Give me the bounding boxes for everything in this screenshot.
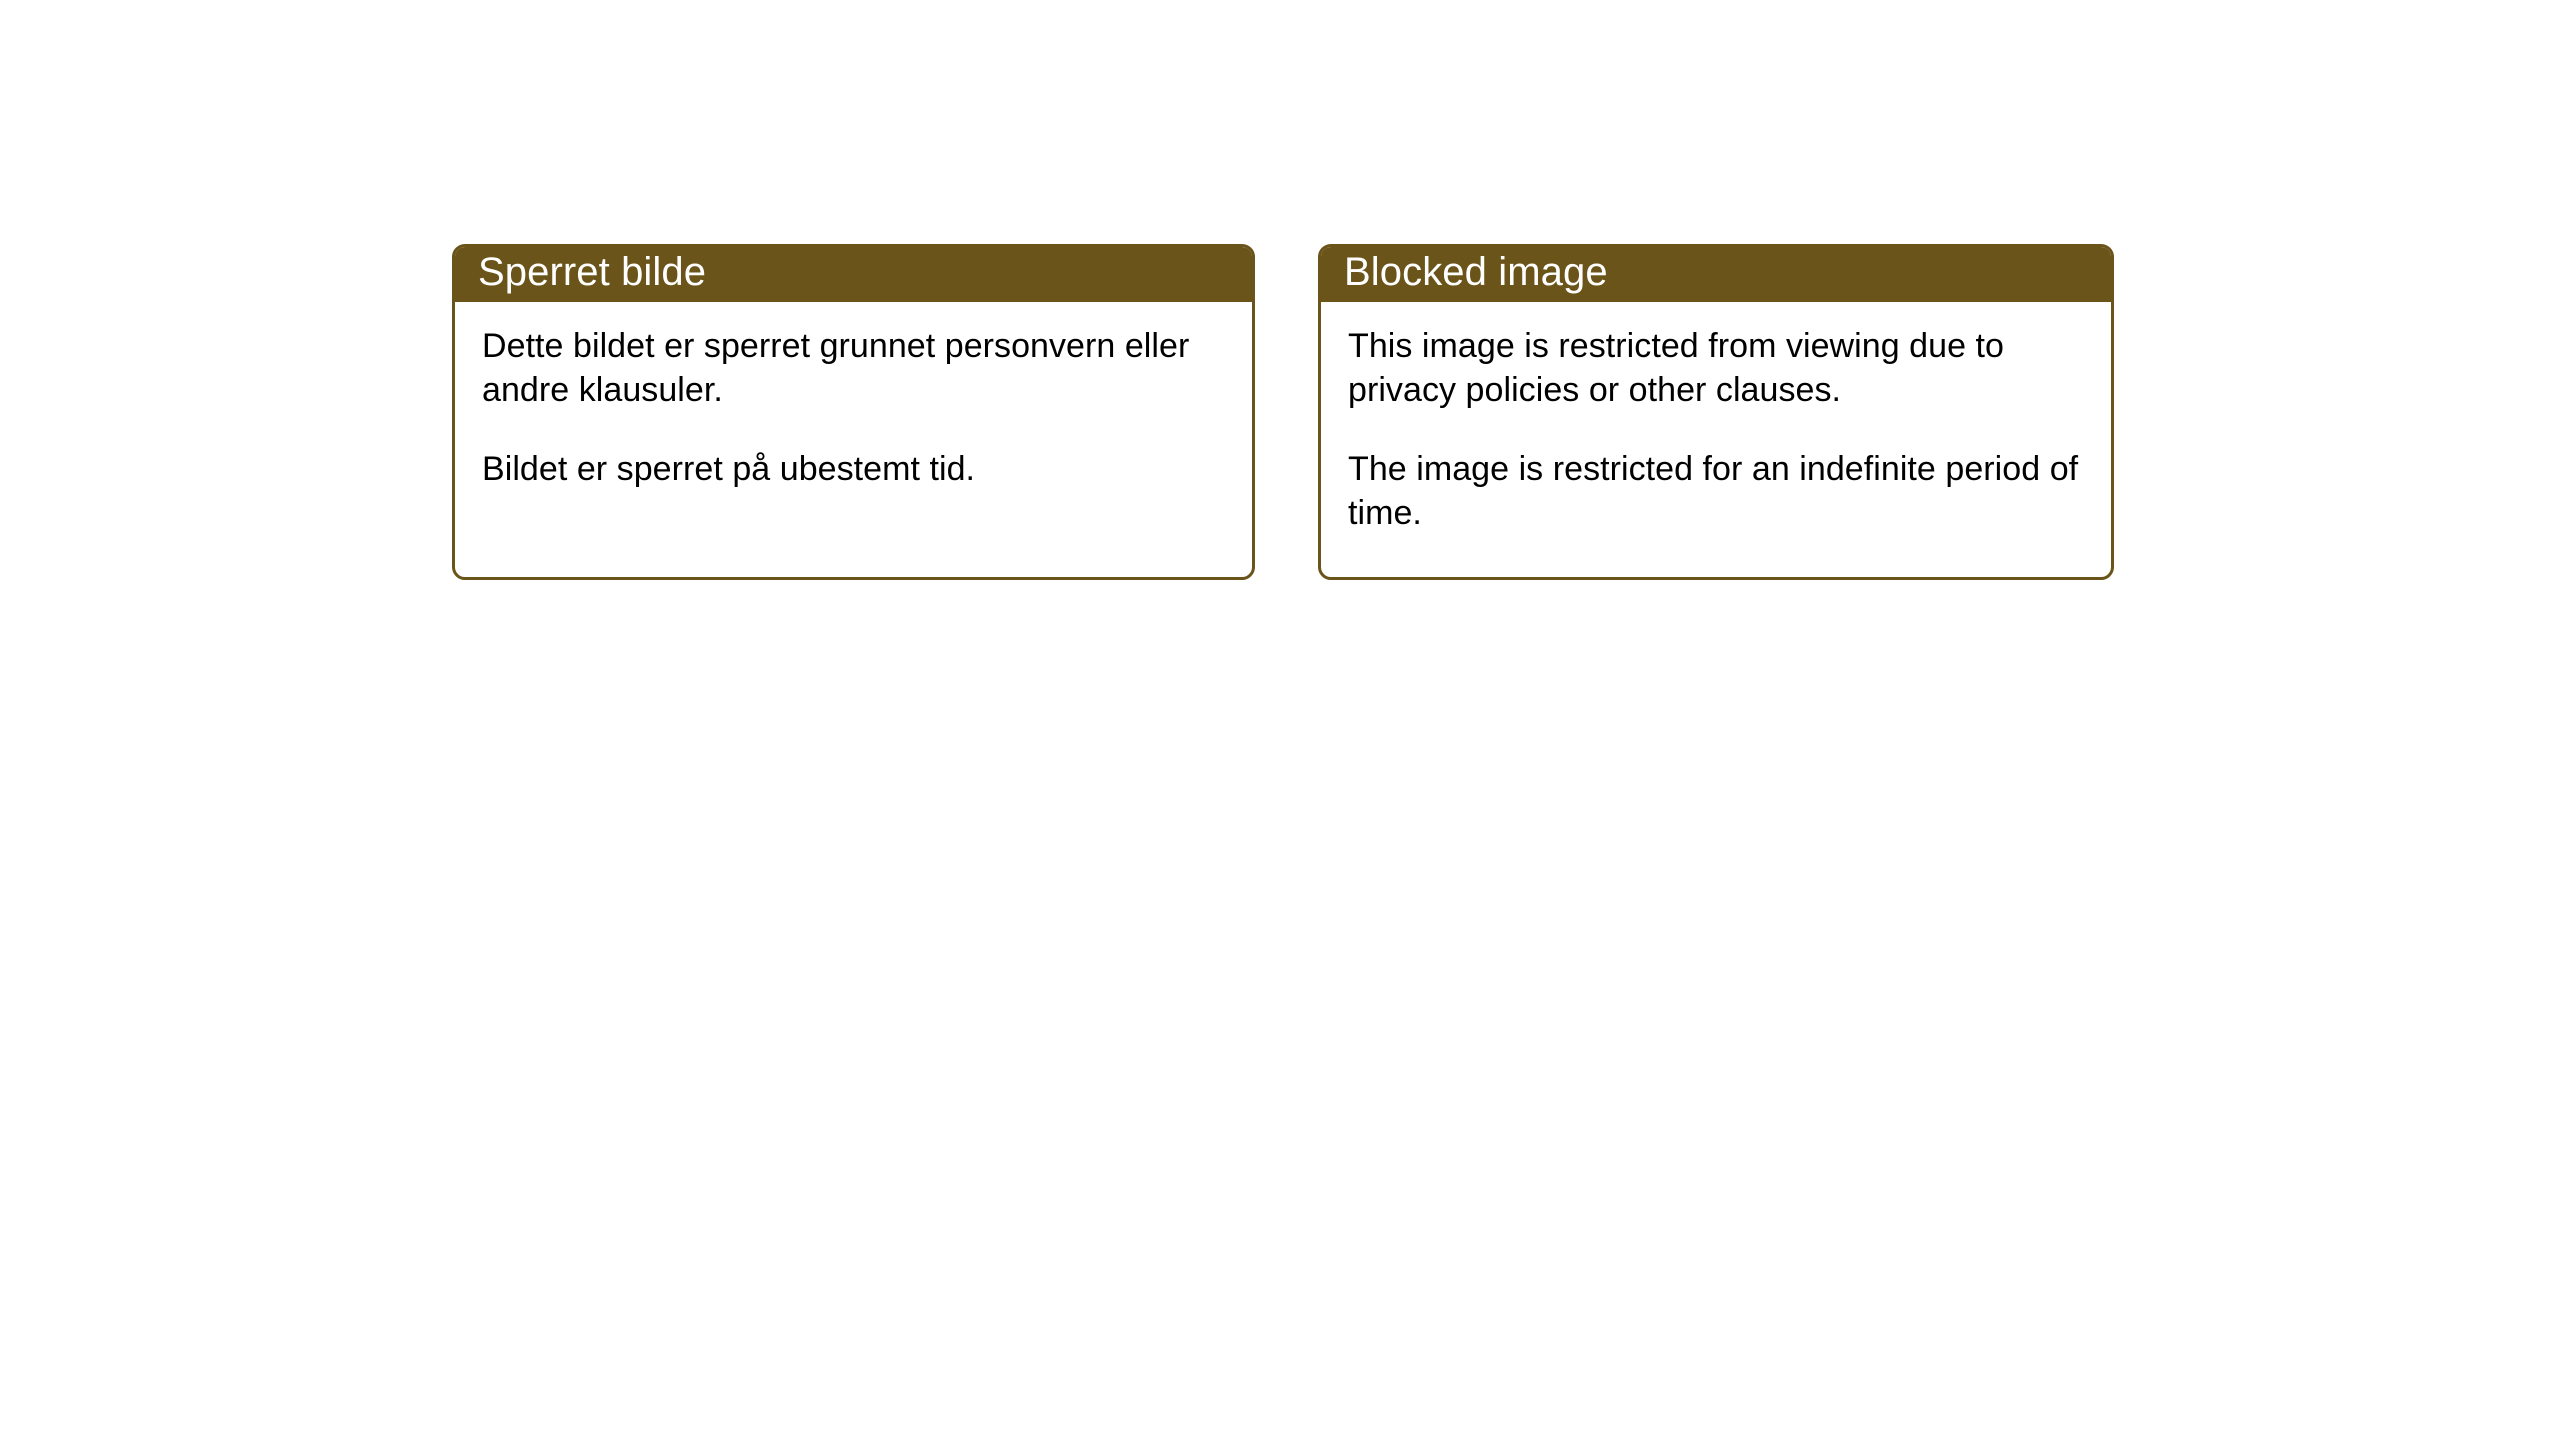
card-body-norwegian: Dette bildet er sperret grunnet personve… bbox=[455, 302, 1252, 491]
card-paragraph-reason-norwegian: Dette bildet er sperret grunnet personve… bbox=[482, 324, 1228, 412]
card-header-english: Blocked image bbox=[1318, 244, 2114, 302]
card-title-english: Blocked image bbox=[1344, 252, 1608, 292]
card-header-norwegian: Sperret bilde bbox=[452, 244, 1255, 302]
card-paragraph-duration-english: The image is restricted for an indefinit… bbox=[1348, 447, 2087, 535]
page-canvas: Sperret bilde Dette bildet er sperret gr… bbox=[0, 0, 2560, 1440]
blocked-image-notice-card-norwegian: Sperret bilde Dette bildet er sperret gr… bbox=[452, 244, 1255, 580]
blocked-image-notice-card-english: Blocked image This image is restricted f… bbox=[1318, 244, 2114, 580]
card-paragraph-duration-norwegian: Bildet er sperret på ubestemt tid. bbox=[482, 447, 1228, 491]
card-title-norwegian: Sperret bilde bbox=[478, 252, 706, 292]
card-paragraph-reason-english: This image is restricted from viewing du… bbox=[1348, 324, 2087, 412]
card-body-english: This image is restricted from viewing du… bbox=[1321, 302, 2111, 535]
